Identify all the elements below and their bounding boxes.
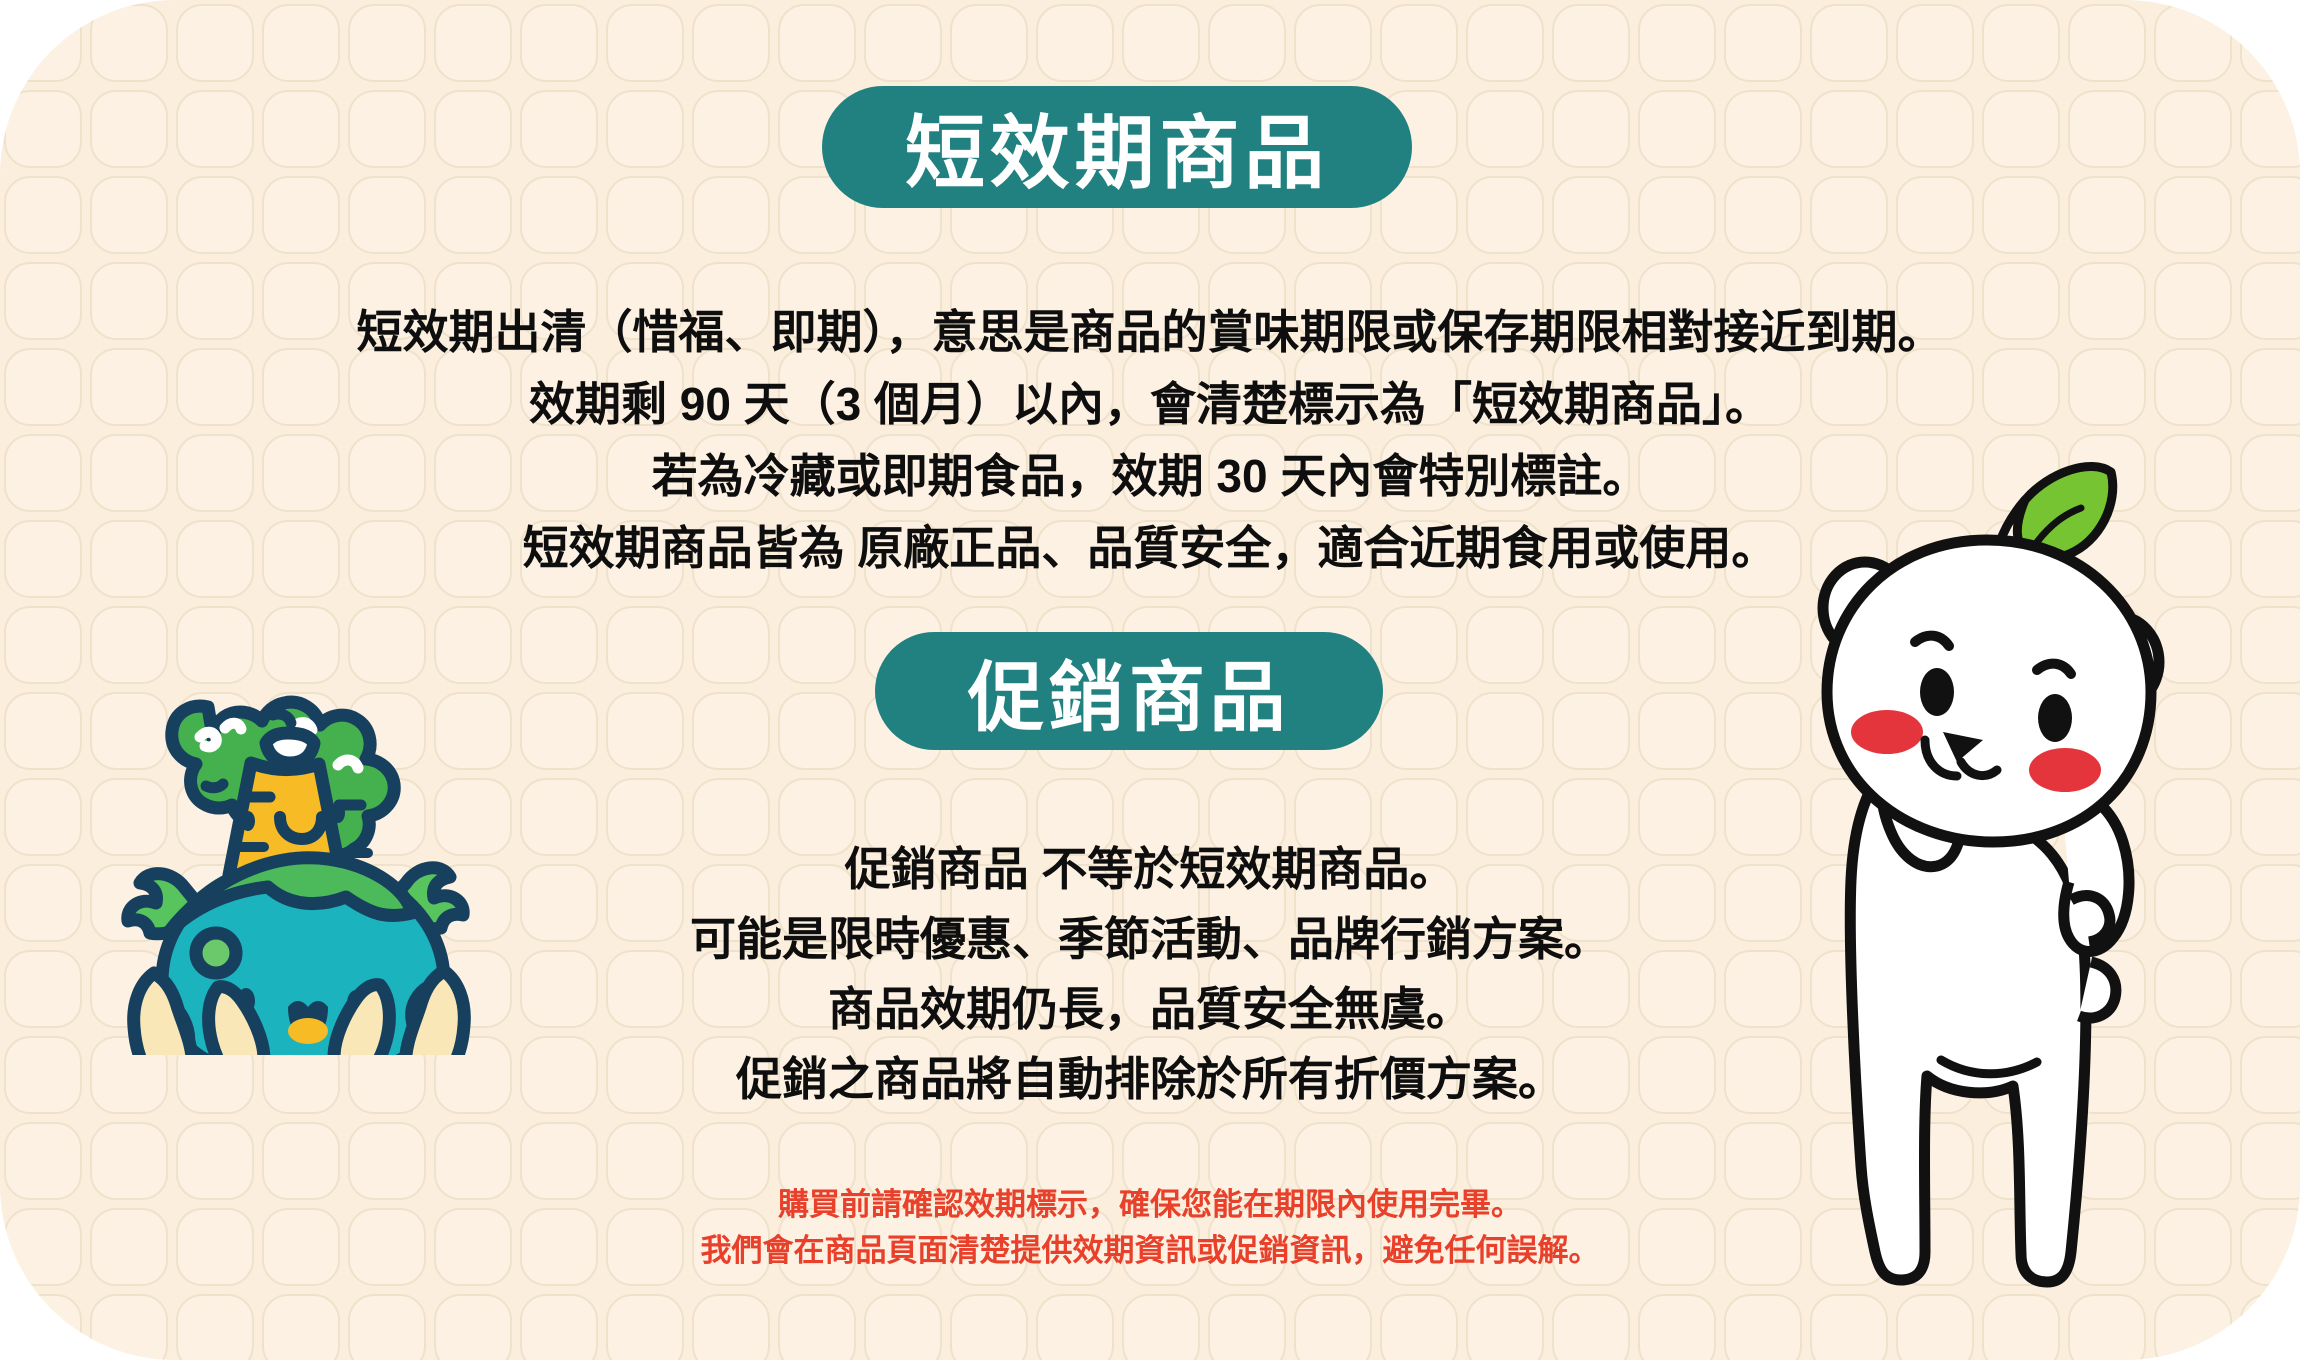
pattern-tile (606, 176, 684, 254)
pattern-tile (1466, 692, 1544, 770)
pattern-tile (520, 4, 598, 82)
pattern-tile (520, 90, 598, 168)
pattern-tile (90, 176, 168, 254)
pattern-tile (692, 4, 770, 82)
pattern-tile (606, 692, 684, 770)
purchase-notice: 購買前請確認效期標示，確保您能在期限內使用完畢。 我們會在商品頁面清楚提供效期資… (0, 1182, 2300, 1274)
pattern-tile (176, 1294, 254, 1360)
pattern-tile (2154, 176, 2232, 254)
notice-line-1: 購買前請確認效期標示，確保您能在期限內使用完畢。 (0, 1182, 2300, 1228)
pattern-tile (1122, 1294, 1200, 1360)
pattern-tile (1552, 1294, 1630, 1360)
pattern-tile (2154, 1294, 2232, 1360)
pattern-tile (4, 176, 82, 254)
promotion-description: 促銷商品 不等於短效期商品。 可能是限時優惠、季節活動、品牌行銷方案。 商品效期… (0, 834, 2300, 1114)
pattern-tile (1896, 90, 1974, 168)
pattern-tile (778, 1294, 856, 1360)
pattern-tile (1724, 90, 1802, 168)
pattern-tile (1810, 176, 1888, 254)
pattern-tile (4, 692, 82, 770)
pattern-tile (1294, 1294, 1372, 1360)
pattern-tile (606, 4, 684, 82)
pattern-tile (2240, 606, 2300, 684)
pattern-tile (778, 692, 856, 770)
pattern-tile (176, 176, 254, 254)
short-expiry-line-2: 效期剩 90 天（3 個月）以內，會清楚標示為「短效期商品」。 (0, 368, 2300, 440)
pattern-tile (1638, 606, 1716, 684)
pattern-tile (778, 606, 856, 684)
short-expiry-line-3: 若為冷藏或即期食品，效期 30 天內會特別標註。 (0, 440, 2300, 512)
pattern-tile (434, 176, 512, 254)
pattern-tile (2068, 4, 2146, 82)
pattern-tile (2240, 1294, 2300, 1360)
pattern-tile (1466, 90, 1544, 168)
pattern-tile (90, 1294, 168, 1360)
pattern-tile (4, 1294, 82, 1360)
pattern-tile (1552, 176, 1630, 254)
pattern-tile (1466, 1294, 1544, 1360)
pattern-tile (1466, 4, 1544, 82)
notice-line-2: 我們會在商品頁面清楚提供效期資訊或促銷資訊，避免任何誤解。 (0, 1228, 2300, 1274)
pattern-tile (1810, 4, 1888, 82)
pattern-tile (1380, 692, 1458, 770)
pattern-tile (1638, 1294, 1716, 1360)
pattern-tile (1638, 90, 1716, 168)
pattern-tile (90, 90, 168, 168)
pattern-tile (606, 90, 684, 168)
pattern-tile (4, 4, 82, 82)
pattern-tile (1896, 1294, 1974, 1360)
pattern-tile (176, 90, 254, 168)
pattern-tile (606, 606, 684, 684)
badge-promotion[interactable]: 促銷商品 (875, 632, 1383, 750)
pattern-tile (1896, 176, 1974, 254)
pattern-tile (348, 4, 426, 82)
pattern-tile (434, 4, 512, 82)
pattern-tile (1810, 90, 1888, 168)
pattern-tile (1982, 176, 2060, 254)
pattern-tile (950, 1294, 1028, 1360)
promotion-line-4: 促銷之商品將自動排除於所有折價方案。 (0, 1044, 2300, 1114)
pattern-tile (1638, 176, 1716, 254)
pattern-tile (2068, 90, 2146, 168)
pattern-tile (778, 4, 856, 82)
pattern-tile (1380, 1294, 1458, 1360)
pattern-tile (1552, 606, 1630, 684)
pattern-tile (2154, 4, 2232, 82)
pattern-tile (1208, 4, 1286, 82)
pattern-tile (434, 90, 512, 168)
pattern-tile (606, 1294, 684, 1360)
pattern-tile (2154, 90, 2232, 168)
pattern-tile (1810, 1294, 1888, 1360)
pattern-tile (1380, 606, 1458, 684)
pattern-tile (4, 606, 82, 684)
pattern-tile (1982, 1294, 2060, 1360)
pattern-tile (1552, 90, 1630, 168)
pattern-tile (1208, 1294, 1286, 1360)
pattern-tile (1466, 176, 1544, 254)
pattern-tile (348, 90, 426, 168)
pattern-tile (2068, 1294, 2146, 1360)
short-expiry-description: 短效期出清（惜福、即期），意思是商品的賞味期限或保存期限相對接近到期。 效期剩 … (0, 296, 2300, 584)
pattern-tile (1466, 606, 1544, 684)
pattern-tile (520, 606, 598, 684)
pattern-tile (864, 4, 942, 82)
pattern-tile (1638, 4, 1716, 82)
pattern-tile (864, 1294, 942, 1360)
pattern-tile (2240, 176, 2300, 254)
pattern-tile (520, 176, 598, 254)
pattern-tile (692, 1294, 770, 1360)
promotion-line-3: 商品效期仍長，品質安全無虞。 (0, 974, 2300, 1044)
pattern-tile (1724, 1294, 1802, 1360)
promotion-line-1: 促銷商品 不等於短效期商品。 (0, 834, 2300, 904)
pattern-tile (1724, 4, 1802, 82)
pattern-tile (950, 4, 1028, 82)
pattern-tile (692, 692, 770, 770)
pattern-tile (2240, 692, 2300, 770)
pattern-tile (1982, 90, 2060, 168)
pattern-tile (2240, 90, 2300, 168)
pattern-tile (692, 90, 770, 168)
pattern-tile (1896, 4, 1974, 82)
pattern-tile (692, 606, 770, 684)
info-card: 短效期商品 短效期出清（惜福、即期），意思是商品的賞味期限或保存期限相對接近到期… (0, 0, 2300, 1360)
pattern-tile (1294, 4, 1372, 82)
pattern-tile (1380, 4, 1458, 82)
short-expiry-line-4: 短效期商品皆為 原廠正品、品質安全，適合近期食用或使用。 (0, 512, 2300, 584)
pattern-tile (90, 4, 168, 82)
badge-short-expiry[interactable]: 短效期商品 (822, 86, 1412, 208)
pattern-tile (520, 1294, 598, 1360)
pattern-tile (1552, 692, 1630, 770)
pattern-tile (1982, 4, 2060, 82)
pattern-tile (262, 90, 340, 168)
promotion-line-2: 可能是限時優惠、季節活動、品牌行銷方案。 (0, 904, 2300, 974)
pattern-tile (520, 692, 598, 770)
pattern-tile (176, 4, 254, 82)
pattern-tile (2240, 4, 2300, 82)
pattern-tile (1638, 692, 1716, 770)
pattern-tile (262, 4, 340, 82)
pattern-tile (2068, 176, 2146, 254)
pattern-tile (262, 1294, 340, 1360)
short-expiry-line-1: 短效期出清（惜福、即期），意思是商品的賞味期限或保存期限相對接近到期。 (0, 296, 2300, 368)
pattern-tile (4, 90, 82, 168)
pattern-tile (262, 176, 340, 254)
pattern-tile (348, 1294, 426, 1360)
pattern-tile (692, 176, 770, 254)
pattern-tile (1552, 4, 1630, 82)
pattern-tile (434, 1294, 512, 1360)
pattern-tile (1036, 1294, 1114, 1360)
pattern-tile (1724, 176, 1802, 254)
pattern-tile (1036, 4, 1114, 82)
pattern-tile (348, 176, 426, 254)
pattern-tile (1122, 4, 1200, 82)
